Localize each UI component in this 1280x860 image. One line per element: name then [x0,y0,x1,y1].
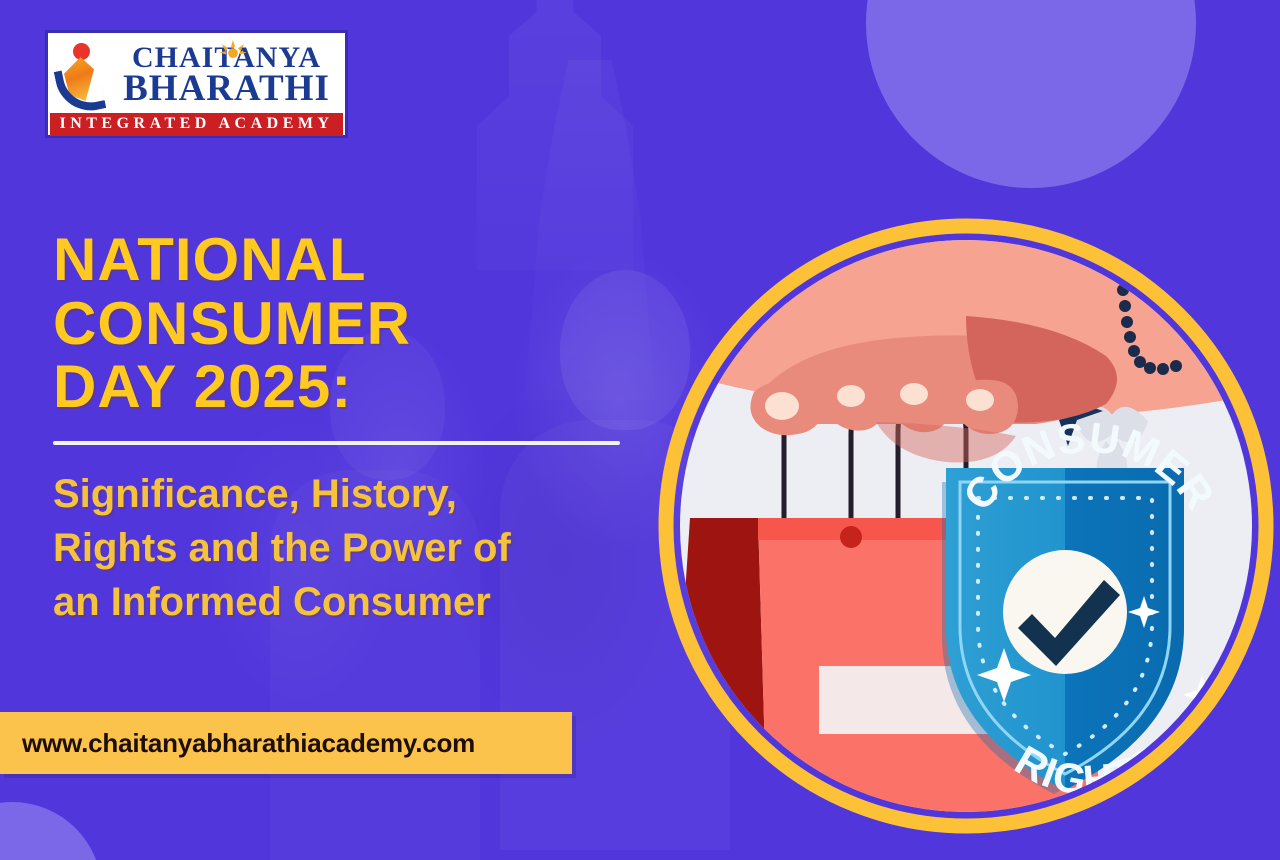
circle-decoration-bottom-left [0,802,102,860]
institution-logo[interactable]: CHAITANYA BHARATHI INTEGRATED ACADEMY [45,30,348,138]
title-line-2: CONSUMER [53,292,653,356]
page-title: NATIONAL CONSUMER DAY 2025: [53,228,653,419]
consumer-rights-illustration: CONSUMER RIGHTS [636,196,1280,856]
subtitle-line-2: Rights and the Power of [53,521,653,575]
website-url-band[interactable]: www.chaitanyabharathiacademy.com [0,712,572,774]
subtitle-line-3: an Informed Consumer [53,575,653,629]
logo-tagline: INTEGRATED ACADEMY [50,113,343,136]
logo-line-2: BHARATHI [114,70,339,107]
title-line-1: NATIONAL [53,228,653,292]
logo-upper-section: CHAITANYA BHARATHI [50,35,343,113]
logo-wordmark: CHAITANYA BHARATHI [114,43,339,107]
title-line-3: DAY 2025: [53,355,653,419]
chaitanya-flame-figure-icon [56,37,114,113]
bag-rivet-left [840,526,862,548]
page-subtitle: Significance, History, Rights and the Po… [53,467,653,629]
website-url-text: www.chaitanyabharathiacademy.com [0,728,475,759]
circle-decoration-top-right [866,0,1196,188]
sunburst-icon [219,40,247,58]
promo-banner: CHAITANYA BHARATHI INTEGRATED ACADEMY NA… [0,0,1280,860]
headline-block: NATIONAL CONSUMER DAY 2025: Significance… [53,228,653,629]
title-divider [53,441,620,445]
subtitle-line-1: Significance, History, [53,467,653,521]
